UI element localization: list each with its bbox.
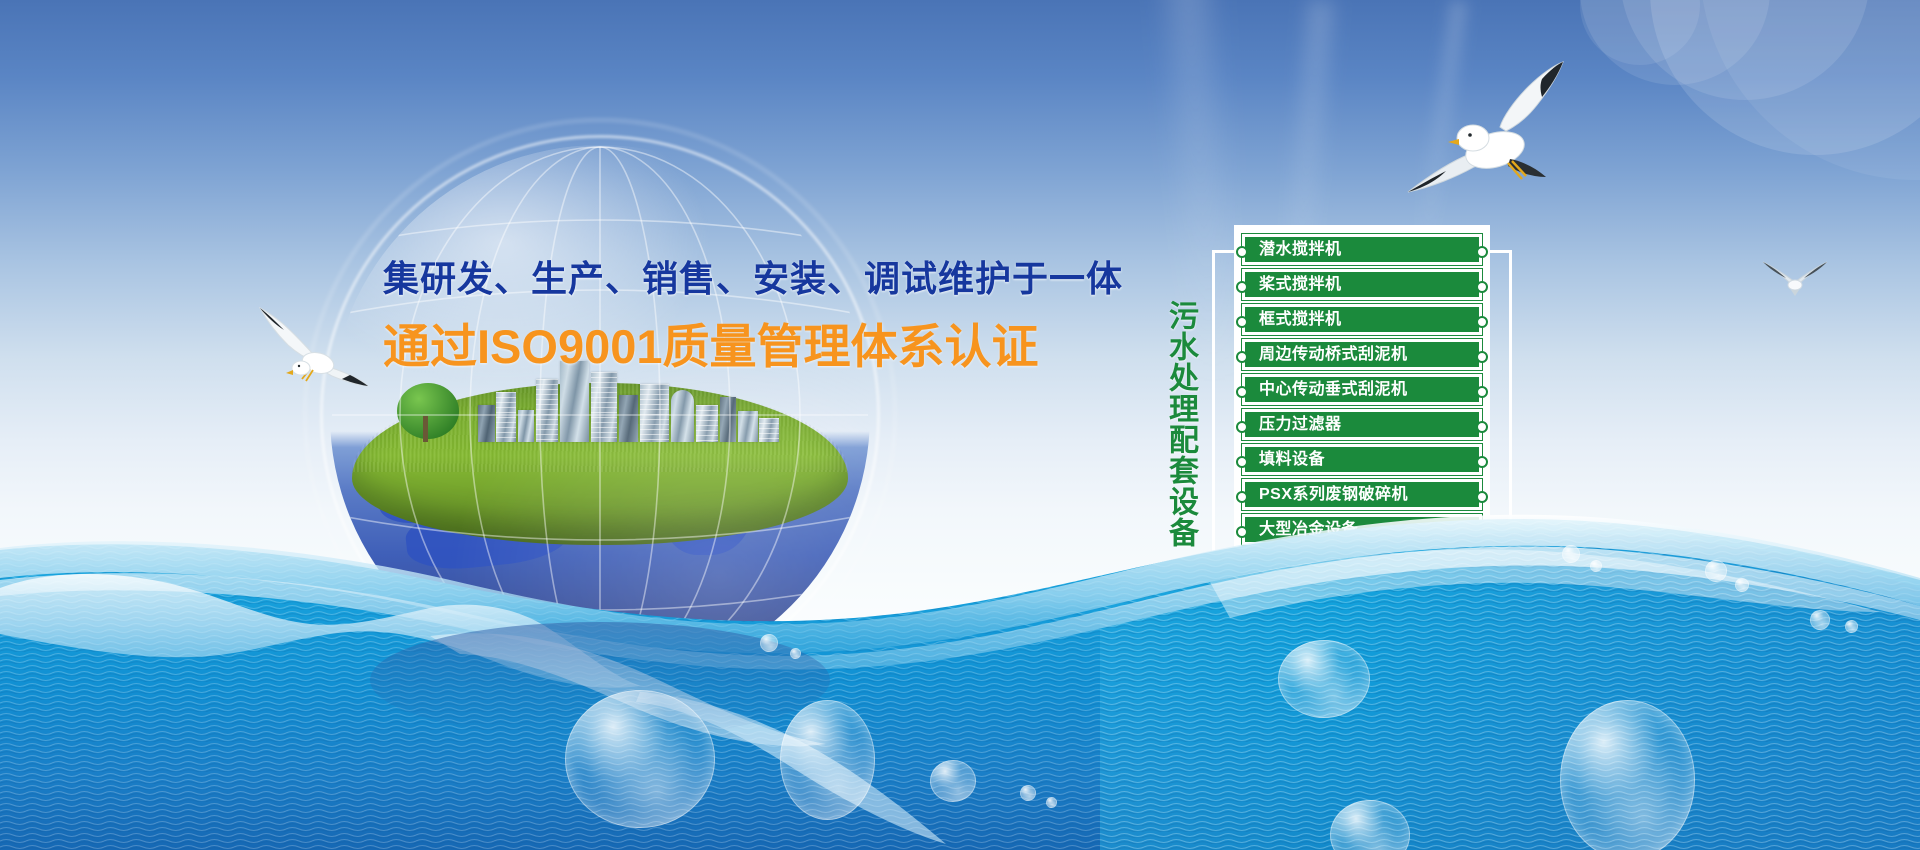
water-bubble <box>780 700 875 820</box>
water-bubble-small <box>1810 610 1830 630</box>
sky-glow-circle <box>1580 0 1700 65</box>
water-bubble-small <box>1845 620 1858 633</box>
menu-item-label: 潜水搅拌机 <box>1259 242 1342 258</box>
wave-foam <box>0 547 1920 670</box>
menu-item-kuangshi-jiaobanji[interactable]: 框式搅拌机 <box>1242 304 1482 335</box>
menu-item-yali-guolvqi[interactable]: 压力过滤器 <box>1242 409 1482 440</box>
water-bubble <box>1330 800 1410 850</box>
sky-glow-circle <box>1650 0 1920 155</box>
menu-item-label: 填料设备 <box>1259 452 1325 468</box>
sky-glow-circle <box>1620 0 1870 100</box>
menu-item-label: 桨式搅拌机 <box>1259 277 1342 293</box>
water-bubble <box>1278 640 1370 718</box>
water-bubble-small <box>1046 797 1057 808</box>
water-bubble-small <box>1735 578 1749 592</box>
menu-vertical-title: 污水处理配套设备 <box>1160 300 1196 548</box>
menu-item-label: 压力过滤器 <box>1259 417 1342 433</box>
water-bubble-small <box>1020 785 1036 801</box>
sea-body <box>0 519 1920 850</box>
banner-root: 集研发、生产、销售、安装、调试维护于一体 通过ISO9001质量管理体系认证 <box>0 0 1920 850</box>
wave-crest <box>0 515 1920 653</box>
headline-block: 集研发、生产、销售、安装、调试维护于一体 通过ISO9001质量管理体系认证 <box>383 250 1183 377</box>
sky-glow-circle <box>1700 0 1920 180</box>
sea-ripples <box>0 519 1920 850</box>
swirl-center-2 <box>636 692 946 844</box>
eco-globe-graphic <box>330 145 870 685</box>
sky-glow-circle <box>1580 0 1770 85</box>
menu-item-zhoubian-guanimji[interactable]: 周边传动桥式刮泥机 <box>1242 339 1482 370</box>
water-bubble-small <box>1590 560 1602 572</box>
menu-item-qianshui-jiaobanji[interactable]: 潜水搅拌机 <box>1242 234 1482 265</box>
seagull-top-right-icon <box>1390 55 1585 215</box>
headline-line-2: 通过ISO9001质量管理体系认证 <box>383 308 1183 377</box>
sky-light-streak <box>1414 0 1468 260</box>
menu-item-label: 中心传动垂式刮泥机 <box>1259 382 1408 398</box>
water-bubble <box>565 690 715 828</box>
menu-list: 潜水搅拌机 桨式搅拌机 框式搅拌机 周边传动桥式刮泥机 中心传动垂式刮泥机 压力… <box>1234 225 1490 556</box>
globe-sphere <box>330 145 870 685</box>
globe-grid-lines <box>330 145 870 685</box>
menu-item-tianliao-shebei[interactable]: 填料设备 <box>1242 444 1482 475</box>
water-bubble <box>1560 700 1695 850</box>
water-bubble <box>930 760 976 802</box>
product-menu-panel: 潜水搅拌机 桨式搅拌机 框式搅拌机 周边传动桥式刮泥机 中心传动垂式刮泥机 压力… <box>1212 250 1512 630</box>
water-bubble-small <box>1562 545 1580 563</box>
menu-item-label: 大型冶金设备 <box>1259 522 1358 538</box>
menu-item-daxing-yejin-shebei[interactable]: 大型冶金设备 <box>1242 514 1482 545</box>
menu-item-label: 框式搅拌机 <box>1259 312 1342 328</box>
menu-item-label: PSX系列废钢破碎机 <box>1259 487 1408 503</box>
water-graphic <box>0 430 1920 850</box>
seagull-far-right-icon <box>1755 250 1835 305</box>
menu-item-label: 周边传动桥式刮泥机 <box>1259 347 1408 363</box>
water-bubble-small <box>1705 560 1727 582</box>
headline-line-1: 集研发、生产、销售、安装、调试维护于一体 <box>383 250 1183 302</box>
menu-item-psx-posuiji[interactable]: PSX系列废钢破碎机 <box>1242 479 1482 510</box>
menu-item-zhongxin-guanimji[interactable]: 中心传动垂式刮泥机 <box>1242 374 1482 405</box>
menu-item-jiangshi-jiaobanji[interactable]: 桨式搅拌机 <box>1242 269 1482 300</box>
